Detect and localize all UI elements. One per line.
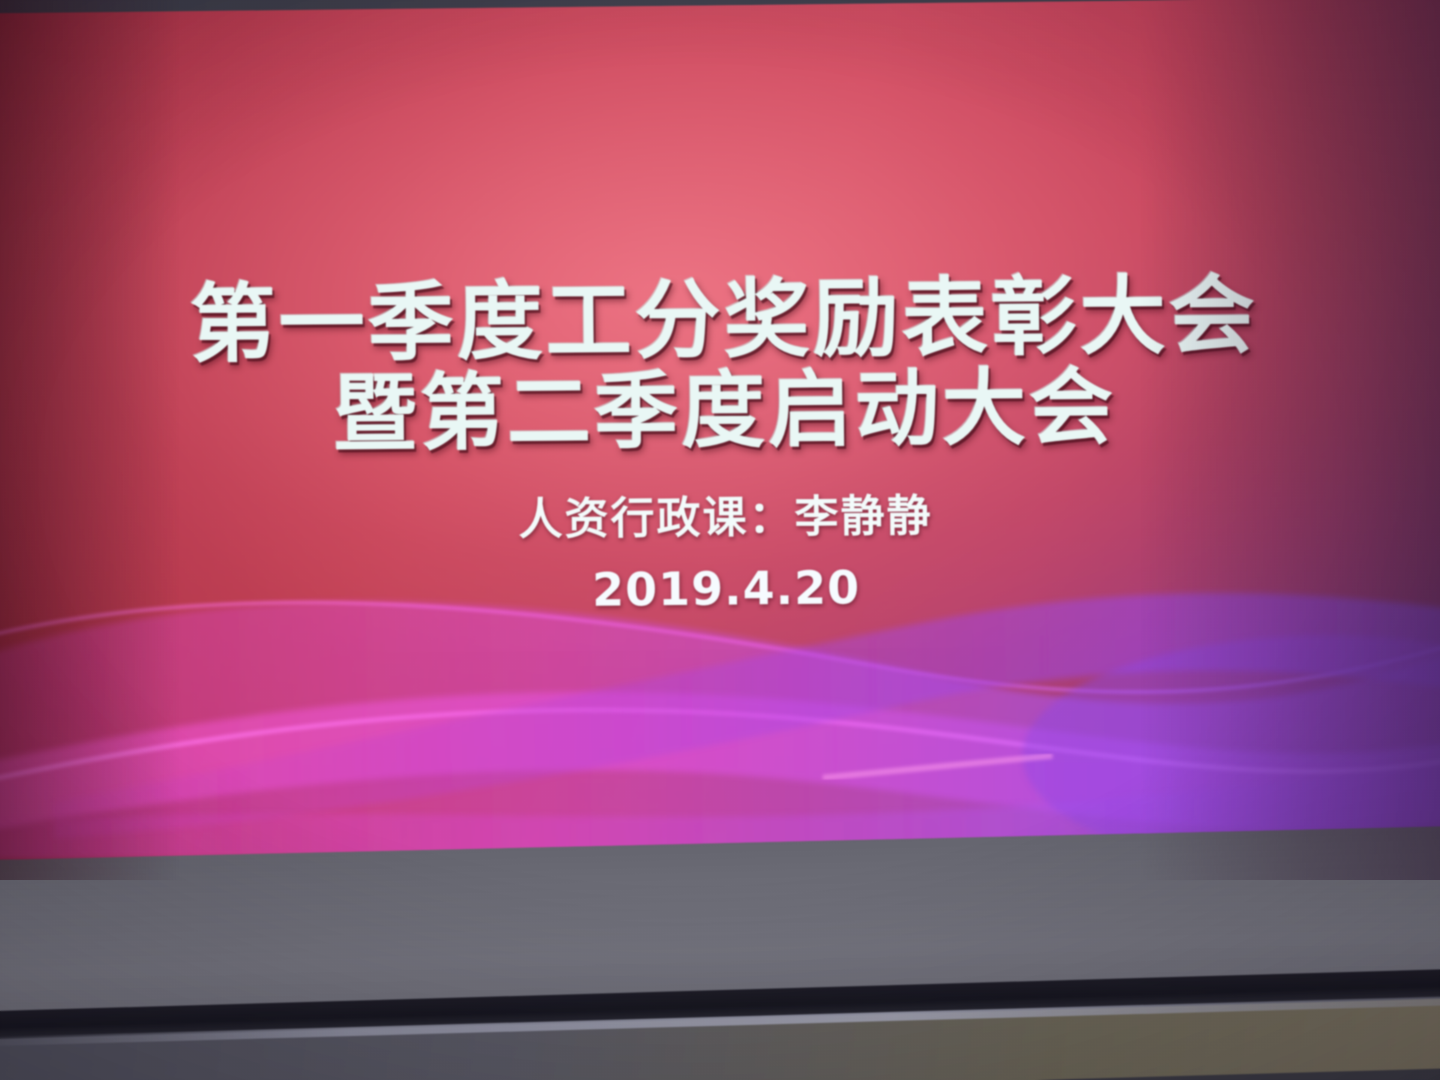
- slide-background: 第一季度工分奖励表彰大会 暨第二季度启动大会 人资行政课：李静静 2019.4.…: [0, 0, 1440, 860]
- slide-title-line-2: 暨第二季度启动大会: [0, 360, 1440, 462]
- slide-text-block: 第一季度工分奖励表彰大会 暨第二季度启动大会 人资行政课：李静静 2019.4.…: [0, 269, 1440, 622]
- photo-canvas: 第一季度工分奖励表彰大会 暨第二季度启动大会 人资行政课：李静静 2019.4.…: [0, 0, 1440, 1080]
- projection-screen: 第一季度工分奖励表彰大会 暨第二季度启动大会 人资行政课：李静静 2019.4.…: [0, 0, 1440, 860]
- slide-presenter-line: 人资行政课：李静静: [0, 475, 1440, 552]
- slide-title-line-1: 第一季度工分奖励表彰大会: [0, 269, 1440, 373]
